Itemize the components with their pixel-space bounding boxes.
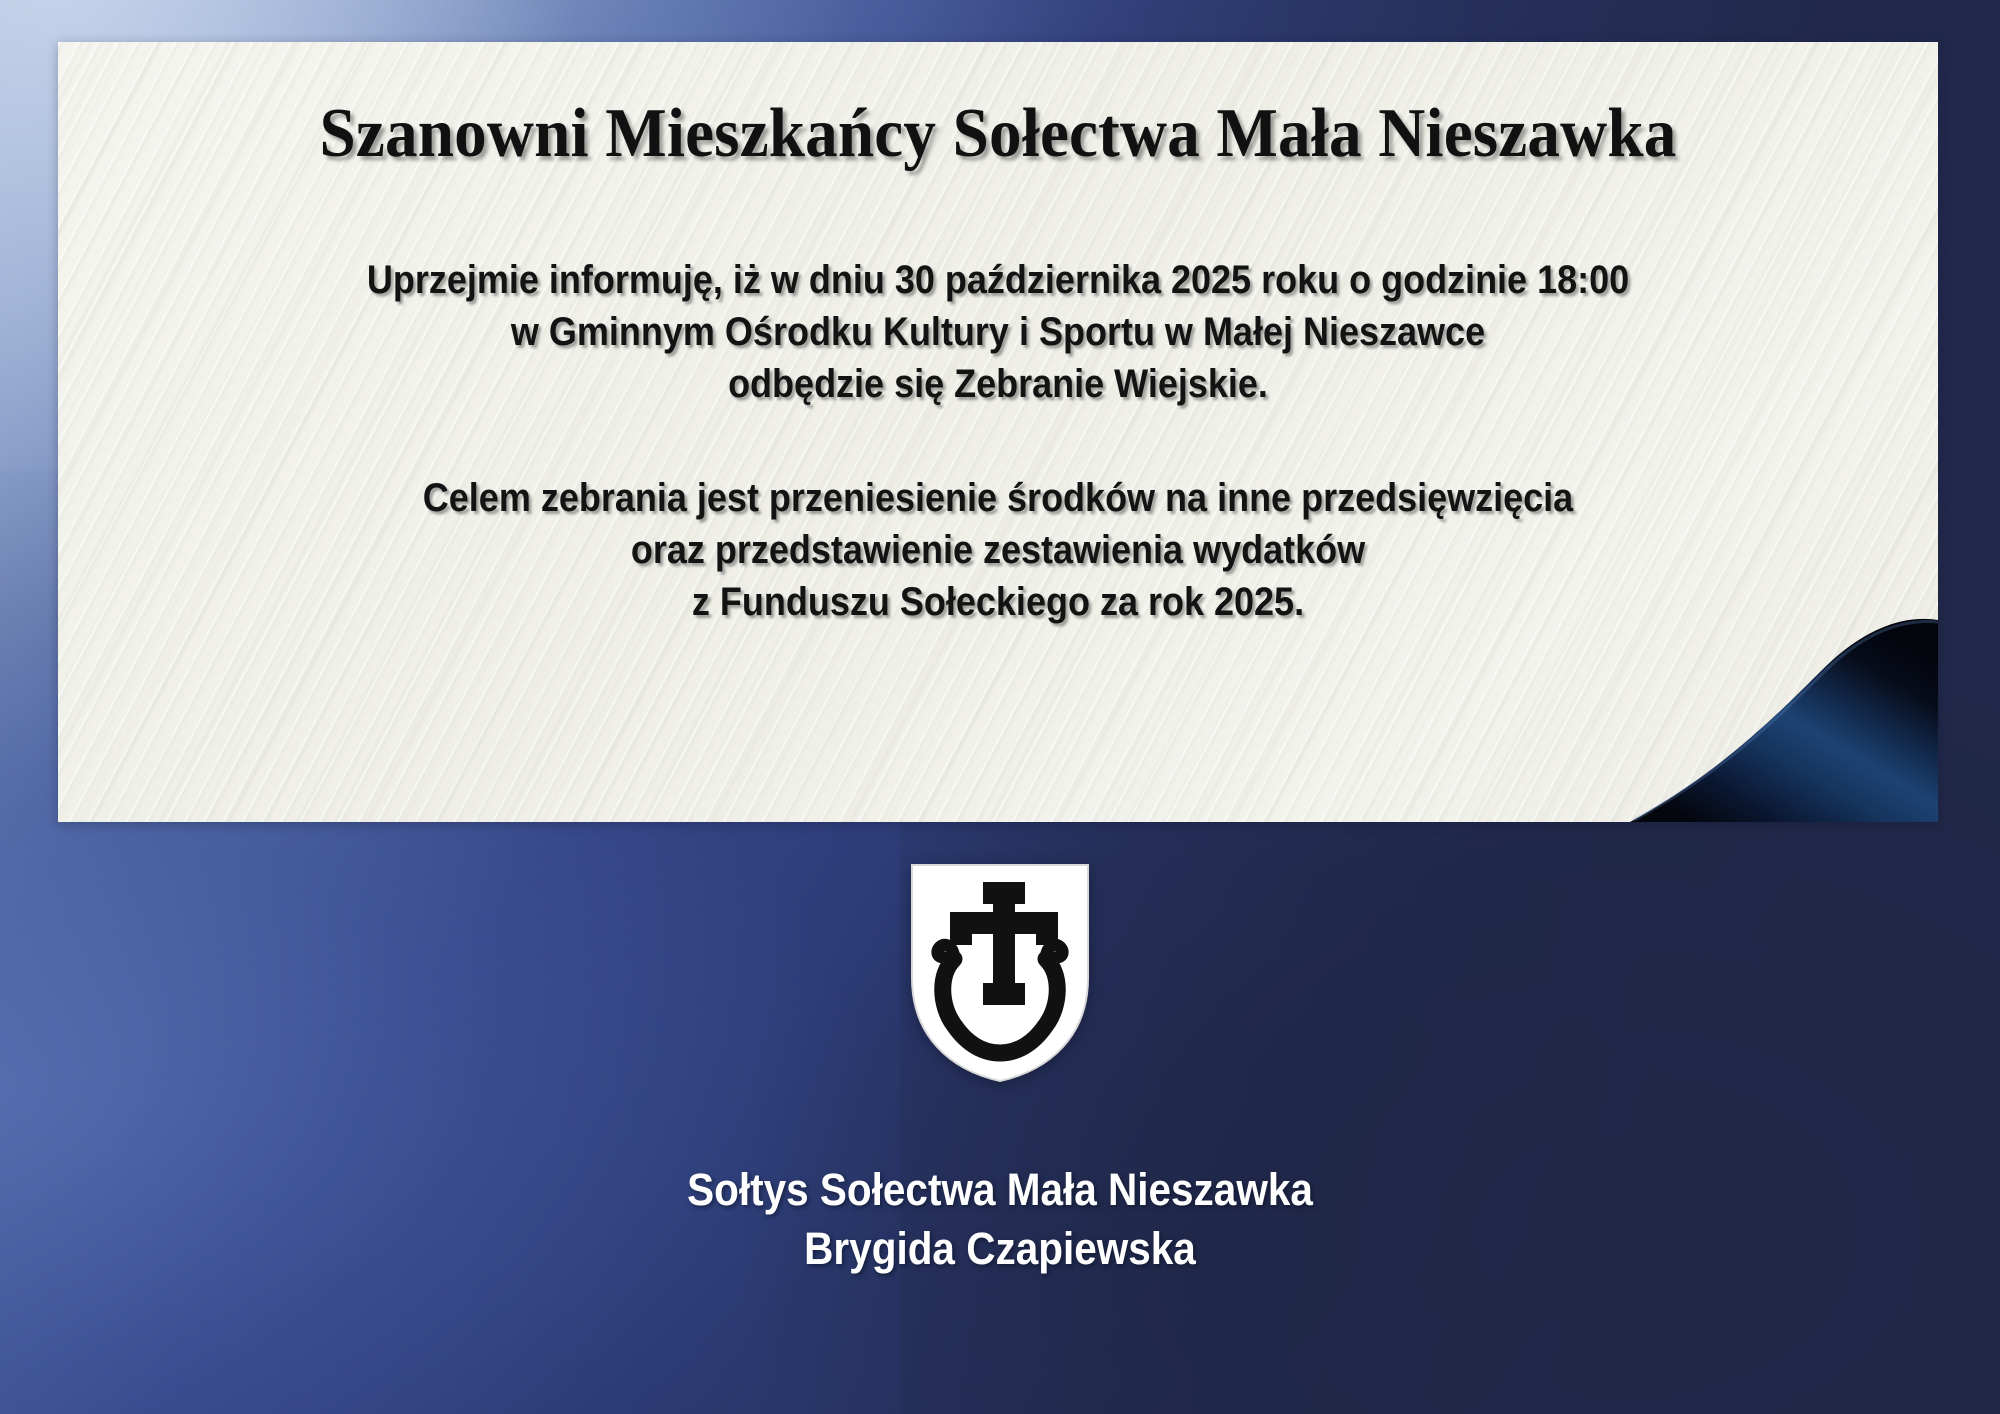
- announcement-line: w Gminnym Ośrodku Kultury i Sportu w Mał…: [188, 306, 1808, 358]
- page-title: Szanowni Mieszkańcy Sołectwa Mała Niesza…: [161, 96, 1835, 172]
- announcement-line: Celem zebrania jest przeniesienie środkó…: [188, 472, 1808, 524]
- coat-of-arms-icon: [907, 860, 1093, 1086]
- announcement-line: z Funduszu Sołeckiego za rok 2025.: [188, 576, 1808, 628]
- notice-paper-card: Szanowni Mieszkańcy Sołectwa Mała Niesza…: [58, 42, 1938, 822]
- announcement-paragraph-agenda: Celem zebrania jest przeniesienie środkó…: [188, 472, 1808, 628]
- signature-name: Brygida Czapiewska: [100, 1219, 1900, 1278]
- signature-block: Sołtys Sołectwa Mała Nieszawka Brygida C…: [100, 1160, 1900, 1279]
- announcement-paragraph-meeting: Uprzejmie informuję, iż w dniu 30 paździ…: [188, 254, 1808, 410]
- announcement-line: Uprzejmie informuję, iż w dniu 30 paździ…: [188, 254, 1808, 306]
- announcement-line: odbędzie się Zebranie Wiejskie.: [188, 358, 1808, 410]
- signature-role: Sołtys Sołectwa Mała Nieszawka: [100, 1160, 1900, 1219]
- poster-canvas: Szanowni Mieszkańcy Sołectwa Mała Niesza…: [0, 0, 2000, 1414]
- announcement-line: oraz przedstawienie zestawienia wydatków: [188, 524, 1808, 576]
- notice-content: Szanowni Mieszkańcy Sołectwa Mała Niesza…: [58, 42, 1938, 822]
